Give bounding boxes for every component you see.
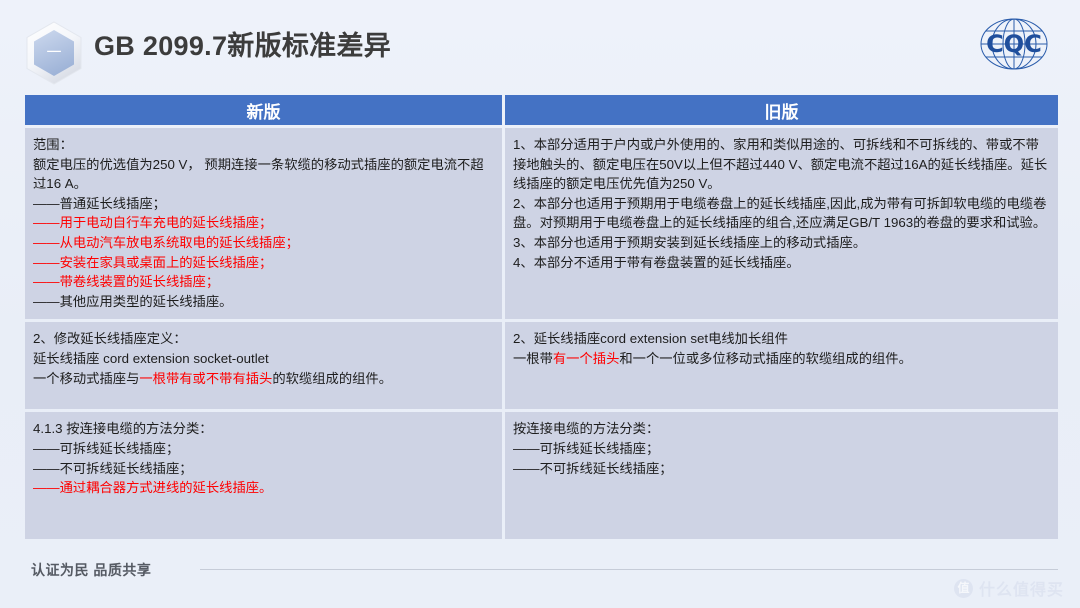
watermark-text: 什么值得买 bbox=[979, 576, 1064, 600]
slide-header: 一 GB 2099.7新版标准差异 CQC bbox=[0, 0, 1080, 88]
cell-line: ——不可拆线延长线插座； bbox=[513, 459, 1050, 479]
cell-text-segment: ——用于电动自行车充电的延长线插座； bbox=[33, 215, 272, 230]
cell-line: 1、本部分适用于户内或户外使用的、家用和类似用途的、可拆线和不可拆线的、带或不带… bbox=[513, 135, 1050, 194]
cell-line: ——不可拆线延长线插座； bbox=[33, 459, 494, 479]
page-title: GB 2099.7新版标准差异 bbox=[94, 28, 391, 64]
cell-text-segment: 2、本部分也适用于预期用于电缆卷盘上的延长线插座,因此,成为带有可拆卸软电缆的电… bbox=[513, 196, 1046, 231]
cell-line: ——其他应用类型的延长线插座。 bbox=[33, 292, 494, 312]
cell-line: 3、本部分也适用于预期安装到延长线插座上的移动式插座。 bbox=[513, 233, 1050, 253]
cell-text-segment: ——通过耦合器方式进线的延长线插座。 bbox=[33, 480, 272, 495]
cell-text-segment: 4、本部分不适用于带有卷盘装置的延长线插座。 bbox=[513, 255, 800, 270]
cell-line: 2、延长线插座cord extension set电线加长组件 bbox=[513, 329, 1050, 349]
table-body: 范围：额定电压的优选值为250 V， 预期连接一条软缆的移动式插座的额定电流不超… bbox=[25, 128, 1058, 539]
cell-text-segment: ——可拆线延长线插座； bbox=[513, 441, 659, 456]
footer-slogan: 认证为民 品质共享 bbox=[31, 560, 151, 580]
cell-line: ——安装在家具或桌面上的延长线插座； bbox=[33, 253, 494, 273]
cell-text-segment: ——带卷线装置的延长线插座； bbox=[33, 274, 219, 289]
cell-text-segment: ——安装在家具或桌面上的延长线插座； bbox=[33, 255, 272, 270]
cell-line: 4.1.3 按连接电缆的方法分类： bbox=[33, 419, 494, 439]
cell-line: ——通过耦合器方式进线的延长线插座。 bbox=[33, 478, 494, 498]
cqc-globe-logo: CQC bbox=[972, 13, 1056, 75]
watermark: 值 什么值得买 bbox=[954, 576, 1064, 600]
cell-text-segment: 和一个一位或多位移动式插座的软缆组成的组件。 bbox=[619, 351, 912, 366]
cell-text-segment: 额定电压的优选值为250 V， 预期连接一条软缆的移动式插座的额定电流不超过16… bbox=[33, 157, 484, 192]
cell-line: 按连接电缆的方法分类： bbox=[513, 419, 1050, 439]
cell-text-segment: 一根带 bbox=[513, 351, 553, 366]
cell-line: ——用于电动自行车充电的延长线插座； bbox=[33, 213, 494, 233]
cell-line: ——可拆线延长线插座； bbox=[513, 439, 1050, 459]
cell-text-segment: ——普通延长线插座； bbox=[33, 196, 166, 211]
cell-line: ——普通延长线插座； bbox=[33, 194, 494, 214]
cell-text-segment: 的软缆组成的组件。 bbox=[272, 371, 392, 386]
cell-new-version: 范围：额定电压的优选值为250 V， 预期连接一条软缆的移动式插座的额定电流不超… bbox=[25, 128, 502, 319]
standard-difference-table: 新版 旧版 范围：额定电压的优选值为250 V， 预期连接一条软缆的移动式插座的… bbox=[22, 92, 1061, 542]
cell-old-version: 1、本部分适用于户内或户外使用的、家用和类似用途的、可拆线和不可拆线的、带或不带… bbox=[505, 128, 1058, 319]
table-row: 4.1.3 按连接电缆的方法分类：——可拆线延长线插座；——不可拆线延长线插座；… bbox=[25, 412, 1058, 539]
cell-line: 范围： bbox=[33, 135, 494, 155]
cell-text-segment: 延长线插座 cord extension socket-outlet bbox=[33, 351, 269, 366]
cell-line: 2、修改延长线插座定义： bbox=[33, 329, 494, 349]
cell-old-version: 2、延长线插座cord extension set电线加长组件一根带有一个插头和… bbox=[505, 322, 1058, 409]
cell-text-segment: 一根带有或不带有插头 bbox=[139, 371, 272, 386]
cell-old-version: 按连接电缆的方法分类：——可拆线延长线插座；——不可拆线延长线插座； bbox=[505, 412, 1058, 539]
table-row: 2、修改延长线插座定义：延长线插座 cord extension socket-… bbox=[25, 322, 1058, 409]
cell-text-segment: ——不可拆线延长线插座； bbox=[513, 461, 673, 476]
cell-text-segment: 按连接电缆的方法分类： bbox=[513, 421, 659, 436]
cell-text-segment: ——不可拆线延长线插座； bbox=[33, 461, 193, 476]
cell-text-segment: 有一个插头 bbox=[553, 351, 619, 366]
table-row: 范围：额定电压的优选值为250 V， 预期连接一条软缆的移动式插座的额定电流不超… bbox=[25, 128, 1058, 319]
hexagon-badge-char: 一 bbox=[46, 43, 61, 61]
cell-line: ——可拆线延长线插座； bbox=[33, 439, 494, 459]
cell-text-segment: 2、修改延长线插座定义： bbox=[33, 331, 187, 346]
cell-text-segment: ——其他应用类型的延长线插座。 bbox=[33, 294, 232, 309]
cell-new-version: 2、修改延长线插座定义：延长线插座 cord extension socket-… bbox=[25, 322, 502, 409]
footer-divider bbox=[200, 569, 1058, 570]
cell-new-version: 4.1.3 按连接电缆的方法分类：——可拆线延长线插座；——不可拆线延长线插座；… bbox=[25, 412, 502, 539]
cell-line: 一个移动式插座与一根带有或不带有插头的软缆组成的组件。 bbox=[33, 369, 494, 389]
cell-text-segment: 1、本部分适用于户内或户外使用的、家用和类似用途的、可拆线和不可拆线的、带或不带… bbox=[513, 137, 1047, 191]
column-header-old-version: 旧版 bbox=[505, 95, 1058, 125]
cell-text-segment: 4.1.3 按连接电缆的方法分类： bbox=[33, 421, 213, 436]
cell-text-segment: ——可拆线延长线插座； bbox=[33, 441, 179, 456]
cell-line: 2、本部分也适用于预期用于电缆卷盘上的延长线插座,因此,成为带有可拆卸软电缆的电… bbox=[513, 194, 1050, 233]
cell-line: ——带卷线装置的延长线插座； bbox=[33, 272, 494, 292]
cell-line: 额定电压的优选值为250 V， 预期连接一条软缆的移动式插座的额定电流不超过16… bbox=[33, 155, 494, 194]
cell-text-segment: 范围： bbox=[33, 137, 73, 152]
slide-canvas: 一 GB 2099.7新版标准差异 CQC bbox=[0, 0, 1080, 608]
cell-text-segment: 2、延长线插座cord extension set电线加长组件 bbox=[513, 331, 788, 346]
hexagon-badge-icon: 一 bbox=[23, 20, 85, 86]
cqc-logo-text: CQC bbox=[986, 30, 1042, 58]
cell-line: 延长线插座 cord extension socket-outlet bbox=[33, 349, 494, 369]
cell-line: 4、本部分不适用于带有卷盘装置的延长线插座。 bbox=[513, 253, 1050, 273]
cell-line: ——从电动汽车放电系统取电的延长线插座； bbox=[33, 233, 494, 253]
cell-line: 一根带有一个插头和一个一位或多位移动式插座的软缆组成的组件。 bbox=[513, 349, 1050, 369]
cell-text-segment: 3、本部分也适用于预期安装到延长线插座上的移动式插座。 bbox=[513, 235, 866, 250]
cell-text-segment: 一个移动式插座与 bbox=[33, 371, 139, 386]
table-header-row: 新版 旧版 bbox=[25, 95, 1058, 125]
watermark-badge-icon: 值 bbox=[954, 579, 973, 598]
column-header-new-version: 新版 bbox=[25, 95, 502, 125]
slide-footer: 认证为民 品质共享 值 什么值得买 bbox=[0, 546, 1080, 608]
cell-text-segment: ——从电动汽车放电系统取电的延长线插座； bbox=[33, 235, 299, 250]
